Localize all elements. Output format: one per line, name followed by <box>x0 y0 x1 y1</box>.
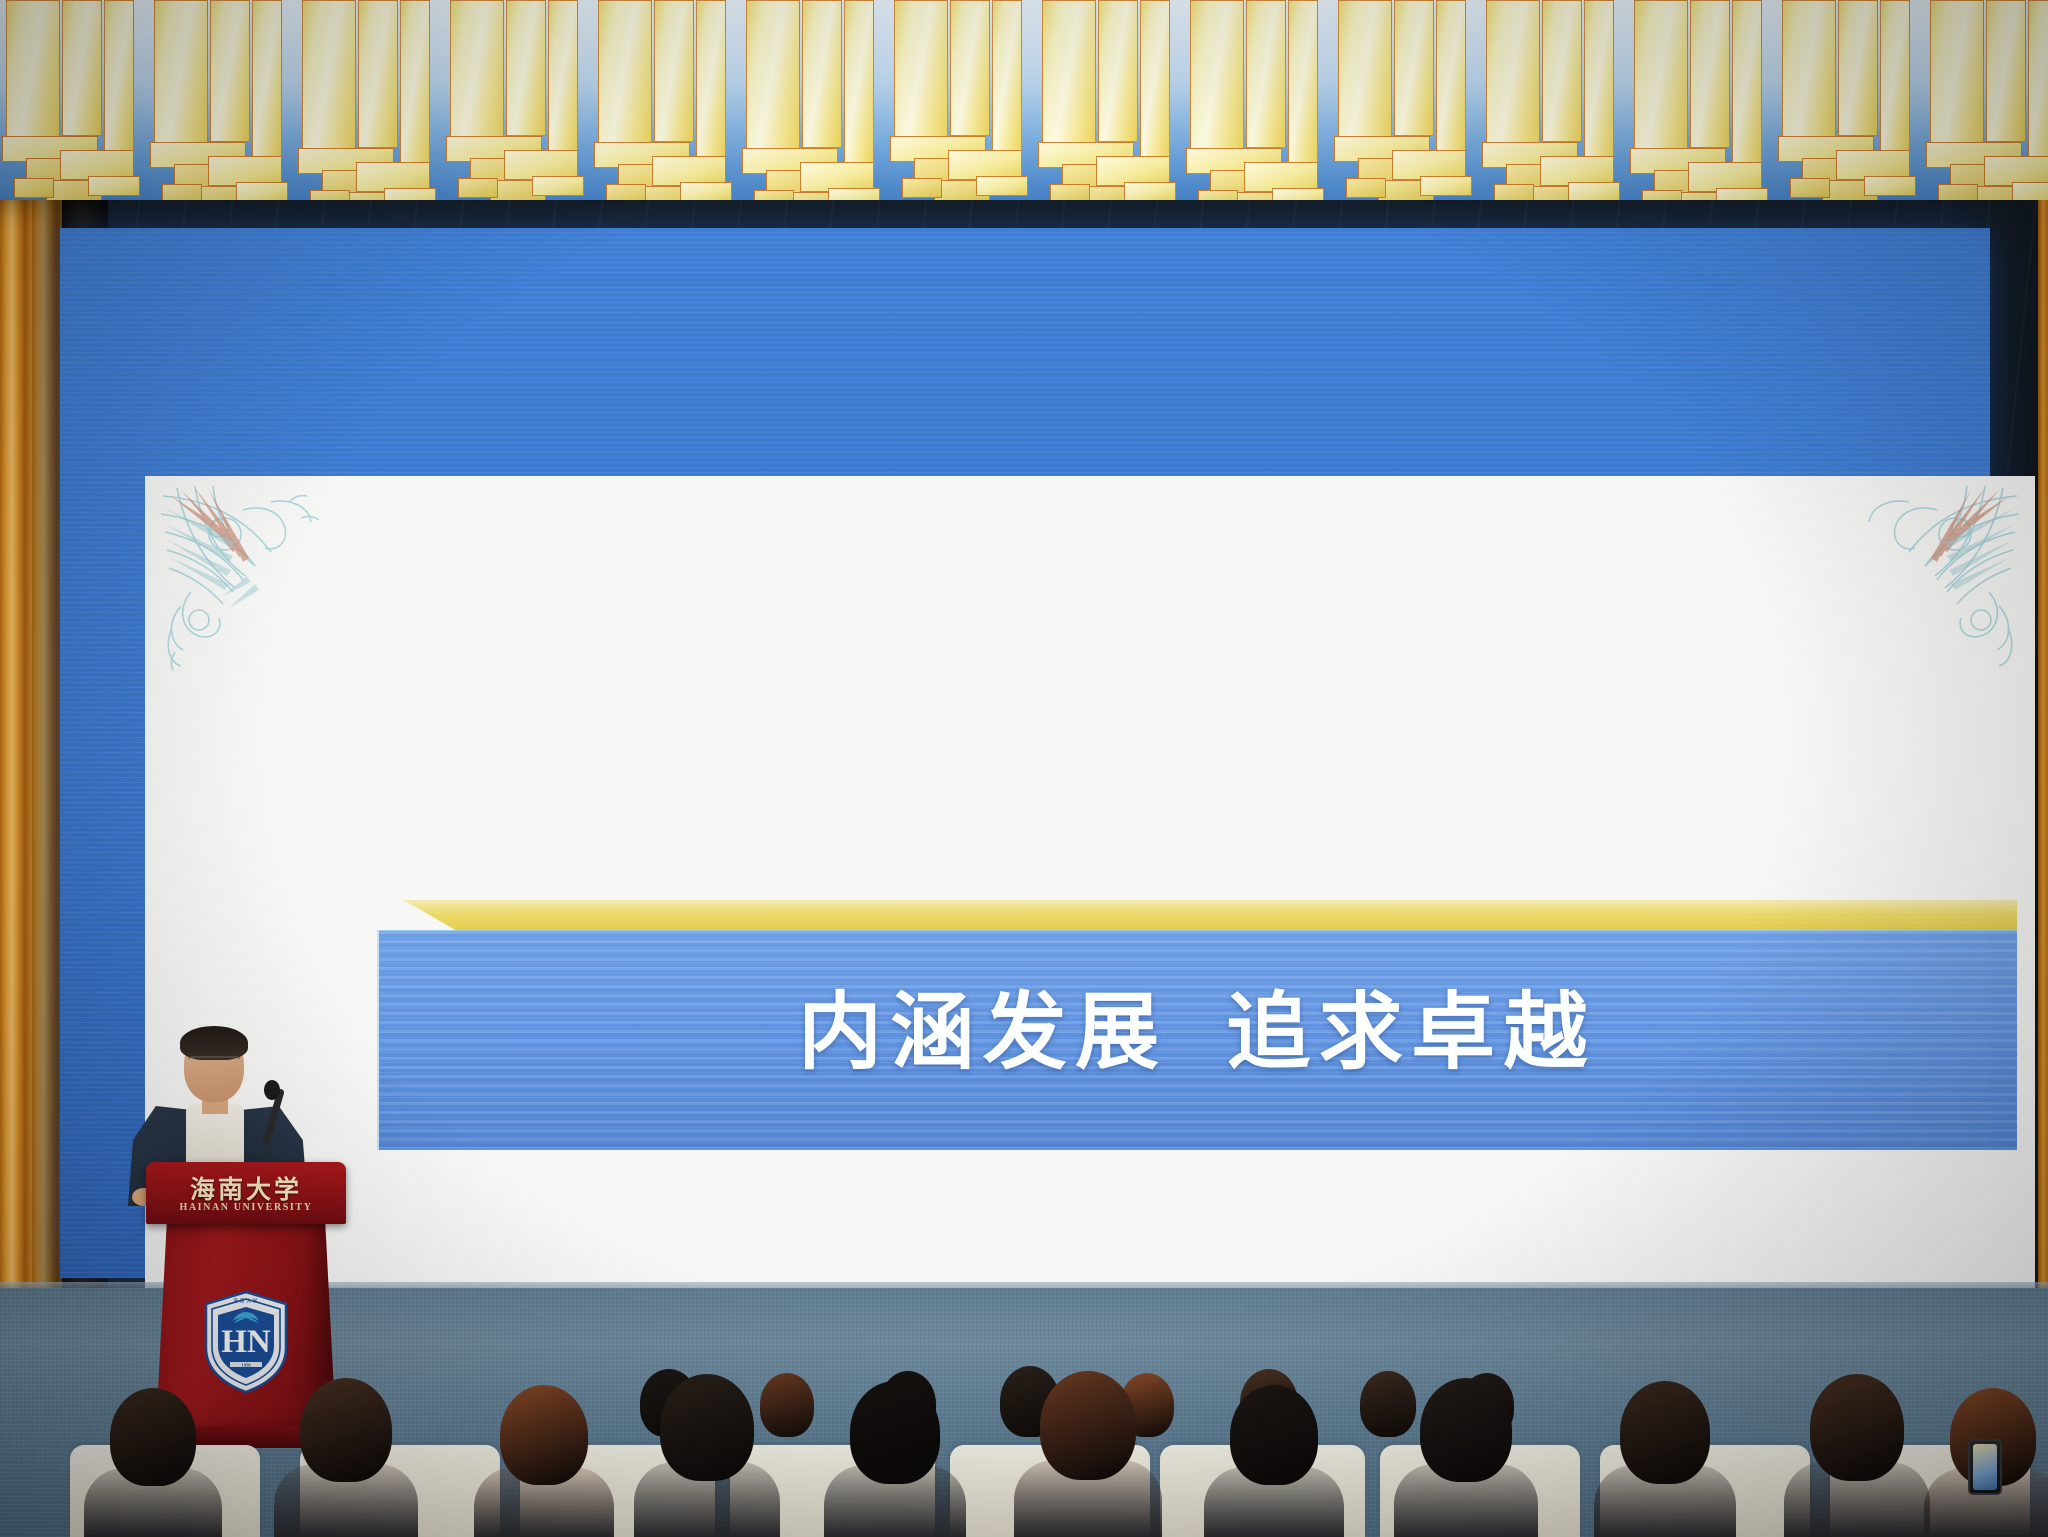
dougong-bracket <box>444 0 592 232</box>
corner-flourish-icon <box>1799 480 2029 680</box>
dougong-bracket <box>1036 0 1184 232</box>
dougong-bracket <box>592 0 740 232</box>
title-banner: 内涵发展 追求卓越 <box>377 900 2017 1150</box>
microphone-head-icon <box>264 1080 280 1100</box>
slide-title: 内涵发展 追求卓越 <box>377 900 2017 1150</box>
university-name-cn: 海南大学 <box>146 1170 346 1206</box>
stage-curtain-right <box>2038 200 2048 1390</box>
led-screen: 内涵发展 追求卓越 <box>60 228 1990 1278</box>
dougong-bracket <box>296 0 444 232</box>
dougong-bracket <box>1776 0 1924 232</box>
corner-flourish-icon <box>151 480 381 680</box>
audience-head <box>850 1381 940 1484</box>
lectern-header-panel: 海南大学 HAINAN UNIVERSITY <box>146 1162 346 1224</box>
dougong-bracket <box>1184 0 1332 232</box>
audience-head <box>1040 1371 1136 1480</box>
emblem-arc-cn: 海南大学 <box>233 1298 259 1305</box>
attendee-phone <box>1968 1439 2002 1495</box>
auditorium-scene: 内涵发展 追求卓越 <box>0 0 2048 1537</box>
audience-head <box>1420 1378 1512 1483</box>
audience-head <box>1230 1385 1318 1485</box>
stage-curtain-left <box>0 200 62 1390</box>
audience-head <box>760 1373 814 1437</box>
dougong-bracket <box>1480 0 1628 232</box>
dougong-bracket <box>148 0 296 232</box>
audience-group <box>0 1330 2048 1537</box>
audience-head <box>1810 1374 1904 1481</box>
ceiling-decoration <box>0 0 2048 232</box>
hair <box>180 1026 248 1060</box>
university-name-en: HAINAN UNIVERSITY <box>146 1202 346 1213</box>
dougong-bracket <box>1332 0 1480 232</box>
dougong-bracket <box>1628 0 1776 232</box>
dougong-bracket <box>1924 0 2048 232</box>
audience-head <box>300 1378 392 1483</box>
audience-head <box>1620 1381 1710 1484</box>
eyeglasses-icon <box>188 1056 240 1068</box>
audience-head <box>1360 1371 1416 1437</box>
audience-head <box>110 1388 196 1486</box>
audience-head <box>500 1385 588 1485</box>
dougong-bracket <box>740 0 888 232</box>
dougong-bracket <box>888 0 1036 232</box>
dougong-bracket <box>0 0 148 232</box>
audience-head <box>660 1374 754 1481</box>
